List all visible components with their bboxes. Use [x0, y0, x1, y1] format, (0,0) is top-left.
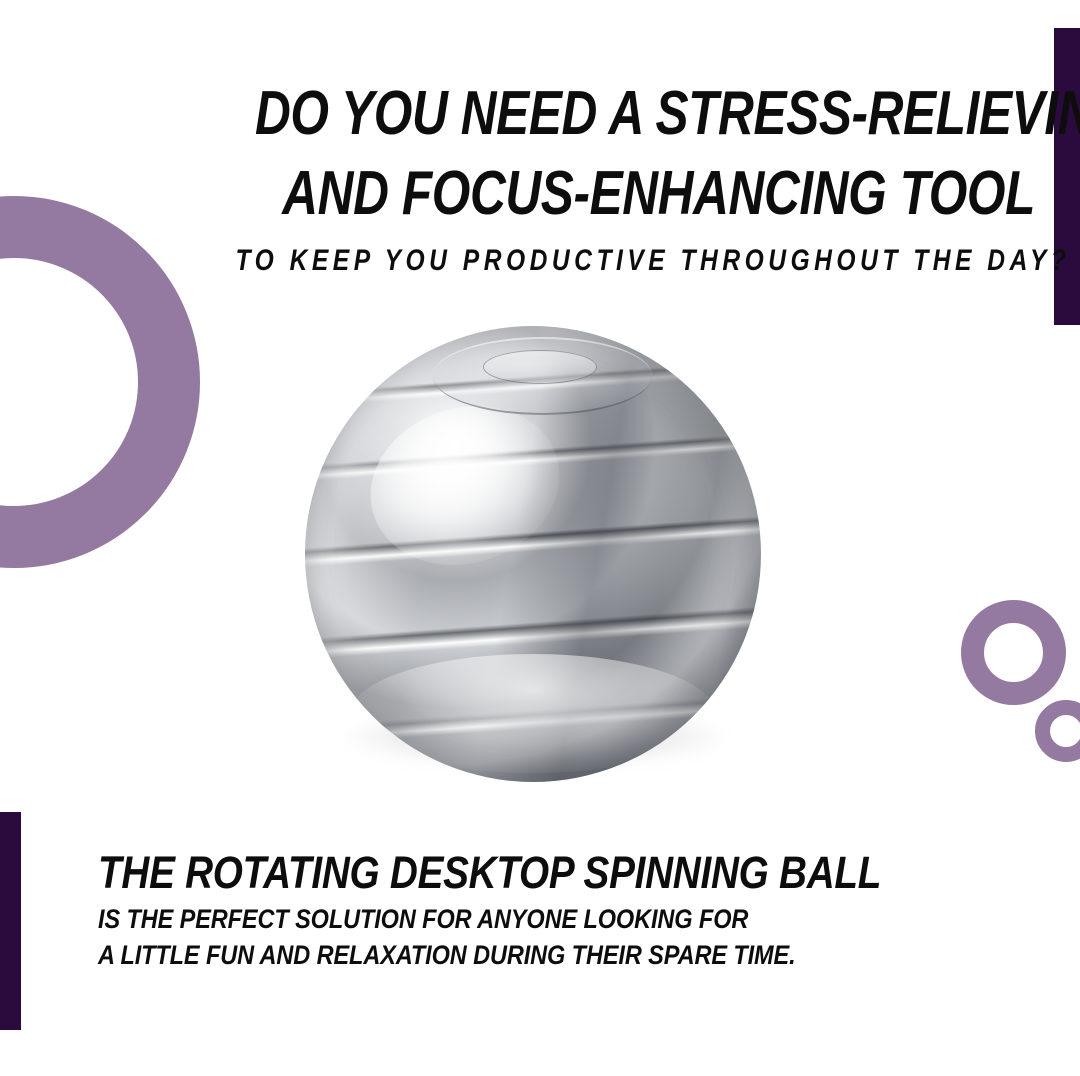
footer-line-1: IS THE PERFECT SOLUTION FOR ANYONE LOOKI…	[98, 901, 881, 937]
headline-block: DO YOU NEED A STRESS-RELIEVING AND FOCUS…	[60, 74, 1035, 284]
headline-line-2: AND FOCUS-ENHANCING TOOL	[255, 154, 1035, 234]
footer-title: THE ROTATING DESKTOP SPINNING BALL	[98, 845, 872, 901]
decor-bar-bottom-left	[0, 812, 21, 1030]
sphere-rim-shading	[305, 326, 761, 782]
decor-ring-right-small	[1035, 700, 1080, 762]
chrome-sphere	[305, 326, 761, 782]
footer-body: IS THE PERFECT SOLUTION FOR ANYONE LOOKI…	[98, 901, 998, 973]
headline-subtitle: TO KEEP YOU PRODUCTIVE THROUGHOUT THE DA…	[236, 238, 1036, 284]
decor-ring-right-large	[961, 600, 1066, 705]
footer-line-2: A LITTLE FUN AND RELAXATION DURING THEIR…	[98, 937, 881, 973]
footer-block: THE ROTATING DESKTOP SPINNING BALL IS TH…	[98, 845, 998, 973]
headline-line-1: DO YOU NEED A STRESS-RELIEVING	[255, 74, 1035, 154]
decor-bar-top-right	[1054, 28, 1080, 325]
poster-canvas: DO YOU NEED A STRESS-RELIEVING AND FOCUS…	[0, 0, 1080, 1076]
product-image-spinning-ball	[305, 326, 761, 782]
